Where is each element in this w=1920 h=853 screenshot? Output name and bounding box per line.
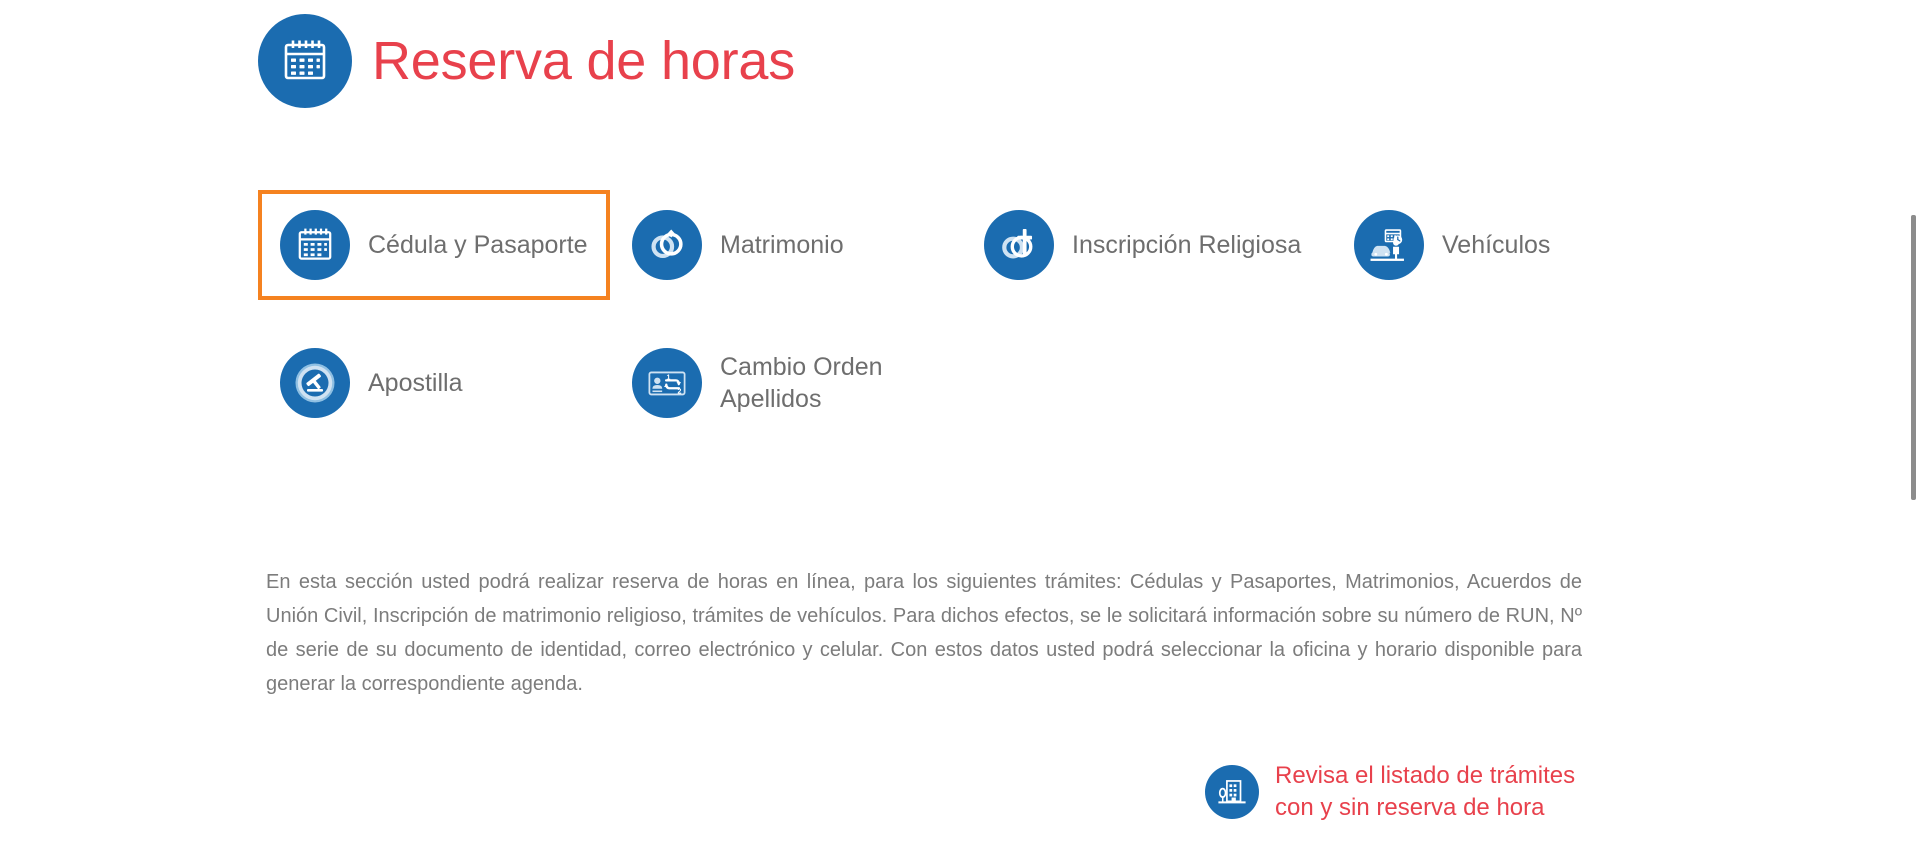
page-root: Reserva de horas <box>0 0 1920 853</box>
gavel-seal-icon <box>280 348 350 418</box>
svg-text:2: 2 <box>678 389 682 396</box>
id-card-swap-icon: 1 2 <box>632 348 702 418</box>
tab-label: Inscripción Religiosa <box>1072 229 1301 261</box>
tab-label: Vehículos <box>1442 229 1550 261</box>
tab-inscripcion-religiosa[interactable]: Inscripción Religiosa <box>962 190 1332 300</box>
page-header: Reserva de horas <box>258 14 795 108</box>
tab-vehiculos[interactable]: Vehículos <box>1332 190 1632 300</box>
scrollbar-thumb[interactable] <box>1911 215 1916 500</box>
tab-label: Matrimonio <box>720 229 844 261</box>
rings-with-cross-icon <box>984 210 1054 280</box>
calendar-icon <box>258 14 352 108</box>
listado-tramites-link[interactable]: Revisa el listado de trámites con y sin … <box>1205 760 1575 823</box>
calendar-icon <box>280 210 350 280</box>
page-title: Reserva de horas <box>372 34 795 88</box>
tab-cambio-orden-apellidos[interactable]: 1 2 Cambio Orden Apellidos <box>610 328 962 438</box>
service-tabs-row-2: Apostilla <box>258 328 1658 438</box>
building-icon <box>1205 765 1259 819</box>
tab-label: Apostilla <box>368 367 463 399</box>
wedding-rings-icon <box>632 210 702 280</box>
tab-cedula-y-pasaporte[interactable]: Cédula y Pasaporte <box>258 190 610 300</box>
svg-text:1: 1 <box>667 374 671 381</box>
vertical-scrollbar[interactable] <box>1906 0 1920 853</box>
tab-label: Cédula y Pasaporte <box>368 229 588 261</box>
intro-paragraph: En esta sección usted podrá realizar res… <box>266 565 1582 701</box>
car-with-person-icon <box>1354 210 1424 280</box>
tab-label: Cambio Orden Apellidos <box>720 351 883 415</box>
tab-matrimonio[interactable]: Matrimonio <box>610 190 962 300</box>
service-tabs-row-1: Cédula y Pasaporte Matrimonio <box>258 190 1658 300</box>
service-tabs: Cédula y Pasaporte Matrimonio <box>258 190 1658 438</box>
listado-tramites-label: Revisa el listado de trámites con y sin … <box>1275 760 1575 823</box>
tab-apostilla[interactable]: Apostilla <box>258 328 610 438</box>
